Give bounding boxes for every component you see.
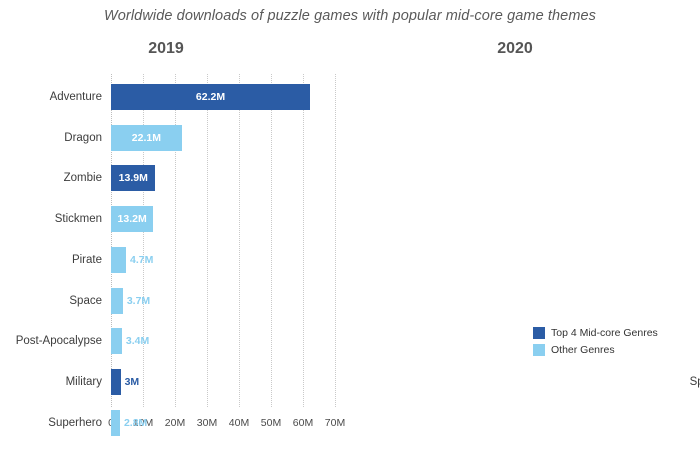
bar-value-label: 4.7M xyxy=(126,247,153,273)
panel-title-2020: 2020 xyxy=(340,40,690,58)
bar[interactable] xyxy=(111,288,123,314)
legend-swatch-top4 xyxy=(533,327,545,339)
legend-item[interactable]: Top 4 Mid-core Genres xyxy=(533,325,658,340)
bar-value-label: 3.4M xyxy=(122,328,149,354)
bar[interactable] xyxy=(111,410,120,436)
category-label: Dragon xyxy=(656,206,700,232)
legend-item[interactable]: Other Genres xyxy=(533,342,658,357)
panel-title-2019: 2019 xyxy=(0,40,332,58)
bar-row: Pirate4.7M xyxy=(111,247,335,273)
panel-2019: 2019 010M20M30M40M50M60M70MAdventure62.2… xyxy=(0,40,346,465)
category-label: Stickmen xyxy=(0,206,111,232)
bar-value-label: 13.2M xyxy=(111,206,153,232)
chart-title: Worldwide downloads of puzzle games with… xyxy=(0,8,700,24)
category-label: Adventure xyxy=(0,84,111,110)
category-label: Pirate xyxy=(0,247,111,273)
chart-figure: Worldwide downloads of puzzle games with… xyxy=(0,0,700,473)
category-label: Combat Arena xyxy=(656,288,700,314)
bar-row: Zombie13.9M xyxy=(111,165,335,191)
legend-swatch-other xyxy=(533,344,545,356)
category-label: Zombie xyxy=(656,410,700,436)
category-label: Superhero xyxy=(0,410,111,436)
category-label: Superhero xyxy=(656,328,700,354)
chart-legend: Top 4 Mid-core GenresOther Genres xyxy=(533,325,658,359)
category-label: Dragon xyxy=(0,125,111,151)
bar-value-label: 13.9M xyxy=(111,165,155,191)
category-label: Zombie xyxy=(0,165,111,191)
gridline xyxy=(335,74,336,407)
category-label: Military xyxy=(656,165,700,191)
bar-value-label: 3.7M xyxy=(123,288,150,314)
bar-value-label: 3M xyxy=(121,369,140,395)
category-label: Post-Apocalypse xyxy=(0,328,111,354)
bar-row: Dragon22.1M xyxy=(111,125,335,151)
bar[interactable] xyxy=(111,247,126,273)
bar-row: Superhero2.8M xyxy=(111,410,335,436)
category-label: Sports - Fighting xyxy=(656,369,700,395)
bar-row: Military3M xyxy=(111,369,335,395)
bar-row: Post-Apocalypse3.4M xyxy=(111,328,335,354)
category-label: Adventure xyxy=(656,84,700,110)
bar-row: Space3.7M xyxy=(111,288,335,314)
legend-label: Other Genres xyxy=(551,344,615,356)
bar[interactable] xyxy=(111,369,121,395)
bar[interactable] xyxy=(111,328,122,354)
panel-2020: 2020 010M20M30M40M50M60M70MAdventure68.7… xyxy=(340,40,700,465)
category-label: Stickmen xyxy=(656,125,700,151)
category-label: Space xyxy=(656,247,700,273)
bar-row: Adventure62.2M xyxy=(111,84,335,110)
plot-area-2019: 010M20M30M40M50M60M70MAdventure62.2MDrag… xyxy=(111,74,335,429)
bar-value-label: 22.1M xyxy=(111,125,182,151)
bar-row: Stickmen13.2M xyxy=(111,206,335,232)
bar-value-label: 62.2M xyxy=(111,84,310,110)
bar-value-label: 2.8M xyxy=(120,410,147,436)
legend-label: Top 4 Mid-core Genres xyxy=(551,327,658,339)
category-label: Space xyxy=(0,288,111,314)
category-label: Military xyxy=(0,369,111,395)
